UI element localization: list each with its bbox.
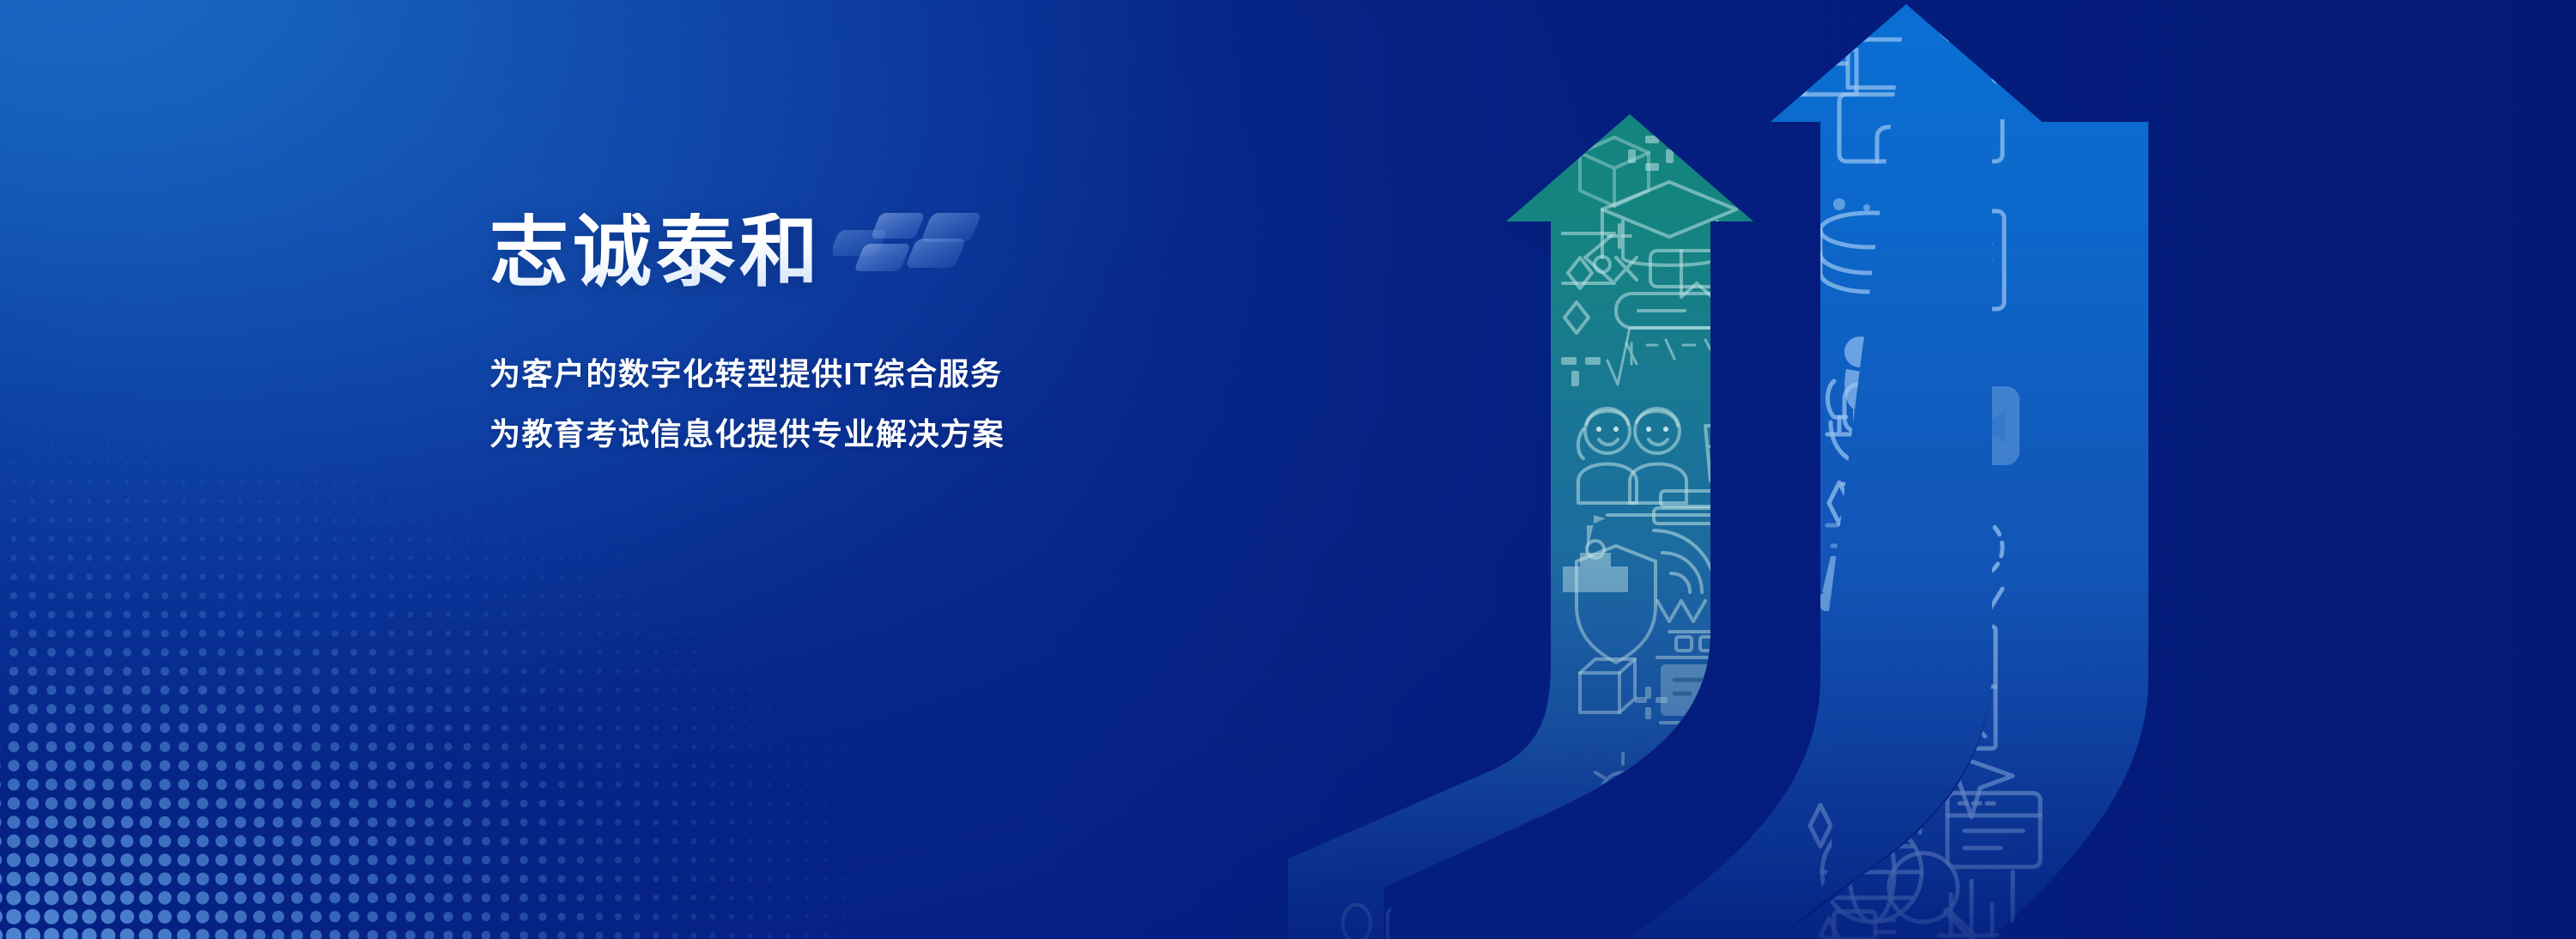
page-title: 志诚泰和 (489, 213, 823, 292)
hero-content: 志诚泰和 (489, 196, 1434, 450)
hero-banner: AI (0, 0, 2576, 939)
tagline-line-2: 为教育考试信息化提供专业解决方案 (489, 419, 1434, 450)
tagline-block: 为客户的数字化转型提供IT综合服务 为教育考试信息化提供专业解决方案 (489, 359, 1434, 450)
brand-row: 志诚泰和 (489, 196, 1434, 292)
tagline-line-1: 为客户的数字化转型提供IT综合服务 (489, 359, 1434, 390)
background-right-wash (0, 0, 2576, 939)
parallelogram-logo-mark (833, 208, 1022, 282)
